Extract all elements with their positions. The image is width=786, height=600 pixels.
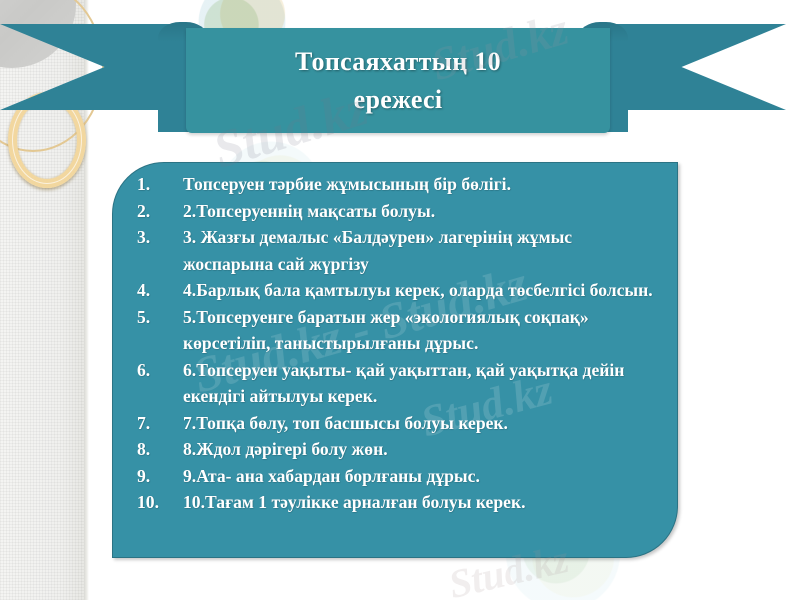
rule-item-number: 10. — [137, 489, 181, 516]
rule-item-text: 4.Барлық бала қамтылуы керек, оларда төс… — [183, 277, 661, 304]
slide-title-line-2: ережесі — [354, 81, 443, 119]
rule-item-number: 7. — [137, 410, 181, 437]
rule-item: 5.5.Топсеруенге баратын жер «экологиялық… — [131, 304, 661, 357]
rule-item-number: 5. — [137, 304, 181, 331]
rule-item: 7.7.Топқа бөлу, топ басшысы болуы керек. — [131, 410, 661, 437]
rule-item-number: 8. — [137, 436, 181, 463]
rule-item-text: 5.Топсеруенге баратын жер «экологиялық с… — [183, 304, 661, 357]
rule-item-number: 9. — [137, 463, 181, 490]
rule-item-number: 4. — [137, 277, 181, 304]
rule-item: 9.9.Ата- ана хабардан борлғаны дұрыс. — [131, 463, 661, 490]
rule-item-number: 2. — [137, 198, 181, 225]
rules-list: 1.Топсеруен тәрбие жұмысының бір бөлігі.… — [113, 171, 677, 516]
rule-item-text: 3. Жазғы демалыс «Балдәурен» лагерінің ж… — [183, 224, 661, 277]
rule-item-text: 10.Тағам 1 тәулікке арналған болуы керек… — [183, 489, 661, 516]
slide-title: Топсаяхаттың 10 ережесі — [186, 28, 610, 133]
rule-item-text: Топсеруен тәрбие жұмысының бір бөлігі. — [183, 171, 661, 198]
rule-item-text: 8.Ждол дәрігері болу жөн. — [183, 436, 661, 463]
rule-item: 8.8.Ждол дәрігері болу жөн. — [131, 436, 661, 463]
rule-item-number: 6. — [137, 357, 181, 384]
rule-item-text: 6.Топсеруен уақыты- қай уақыттан, қай уа… — [183, 357, 661, 410]
rule-item: 10.10.Тағам 1 тәулікке арналған болуы ке… — [131, 489, 661, 516]
rule-item: 3.3. Жазғы демалыс «Балдәурен» лагерінің… — [131, 224, 661, 277]
rule-item: 6.6.Топсеруен уақыты- қай уақыттан, қай … — [131, 357, 661, 410]
rule-item-text: 7.Топқа бөлу, топ басшысы болуы керек. — [183, 410, 661, 437]
rule-item: 2.2.Топсеруеннің мақсаты болуы. — [131, 198, 661, 225]
rule-item: 4.4.Барлық бала қамтылуы керек, оларда т… — [131, 277, 661, 304]
ribbon-banner: Топсаяхаттың 10 ережесі — [0, 0, 786, 145]
slide-canvas: Топсаяхаттың 10 ережесі Stud.kz 1.Топсер… — [0, 0, 786, 600]
rule-item-number: 3. — [137, 224, 181, 251]
rule-item: 1.Топсеруен тәрбие жұмысының бір бөлігі. — [131, 171, 661, 198]
rules-content-box: 1.Топсеруен тәрбие жұмысының бір бөлігі.… — [112, 162, 678, 558]
rule-item-text: 2.Топсеруеннің мақсаты болуы. — [183, 198, 661, 225]
slide-title-line-1: Топсаяхаттың 10 — [295, 43, 501, 81]
rule-item-number: 1. — [137, 171, 181, 198]
ribbon-center-panel: Топсаяхаттың 10 ережесі — [186, 28, 610, 133]
rule-item-text: 9.Ата- ана хабардан борлғаны дұрыс. — [183, 463, 661, 490]
